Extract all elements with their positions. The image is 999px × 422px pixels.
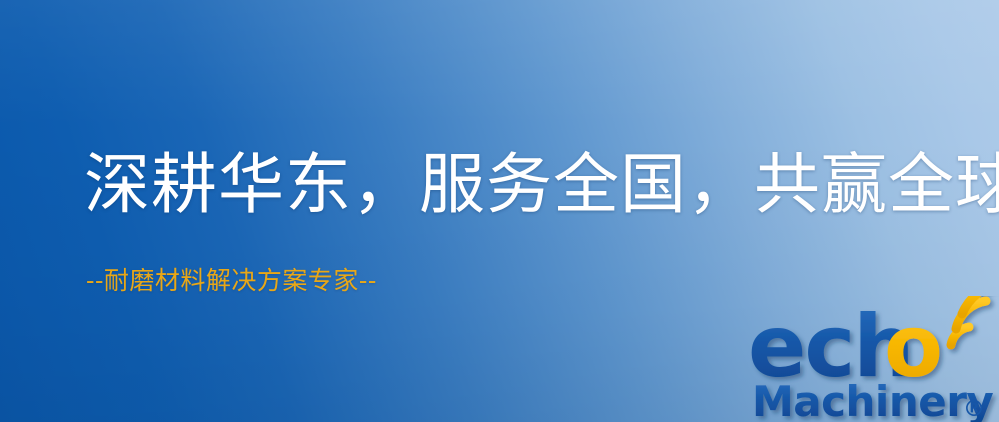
banner-subtitle: --耐磨材料解决方案专家--: [86, 268, 377, 293]
echo-machinery-logo[interactable]: ech o Machinery ®: [748, 296, 999, 422]
signal-waves-icon: [951, 296, 999, 345]
logo-tagline-machinery: Machinery: [752, 377, 993, 422]
hero-banner: 深耕华东，服务全国，共赢全球 --耐磨材料解决方案专家--: [0, 0, 999, 422]
logo-artwork: ech o Machinery ®: [748, 296, 999, 422]
logo-registered-mark: ®: [963, 397, 985, 422]
banner-headline: 深耕华东，服务全国，共赢全球: [84, 152, 999, 218]
